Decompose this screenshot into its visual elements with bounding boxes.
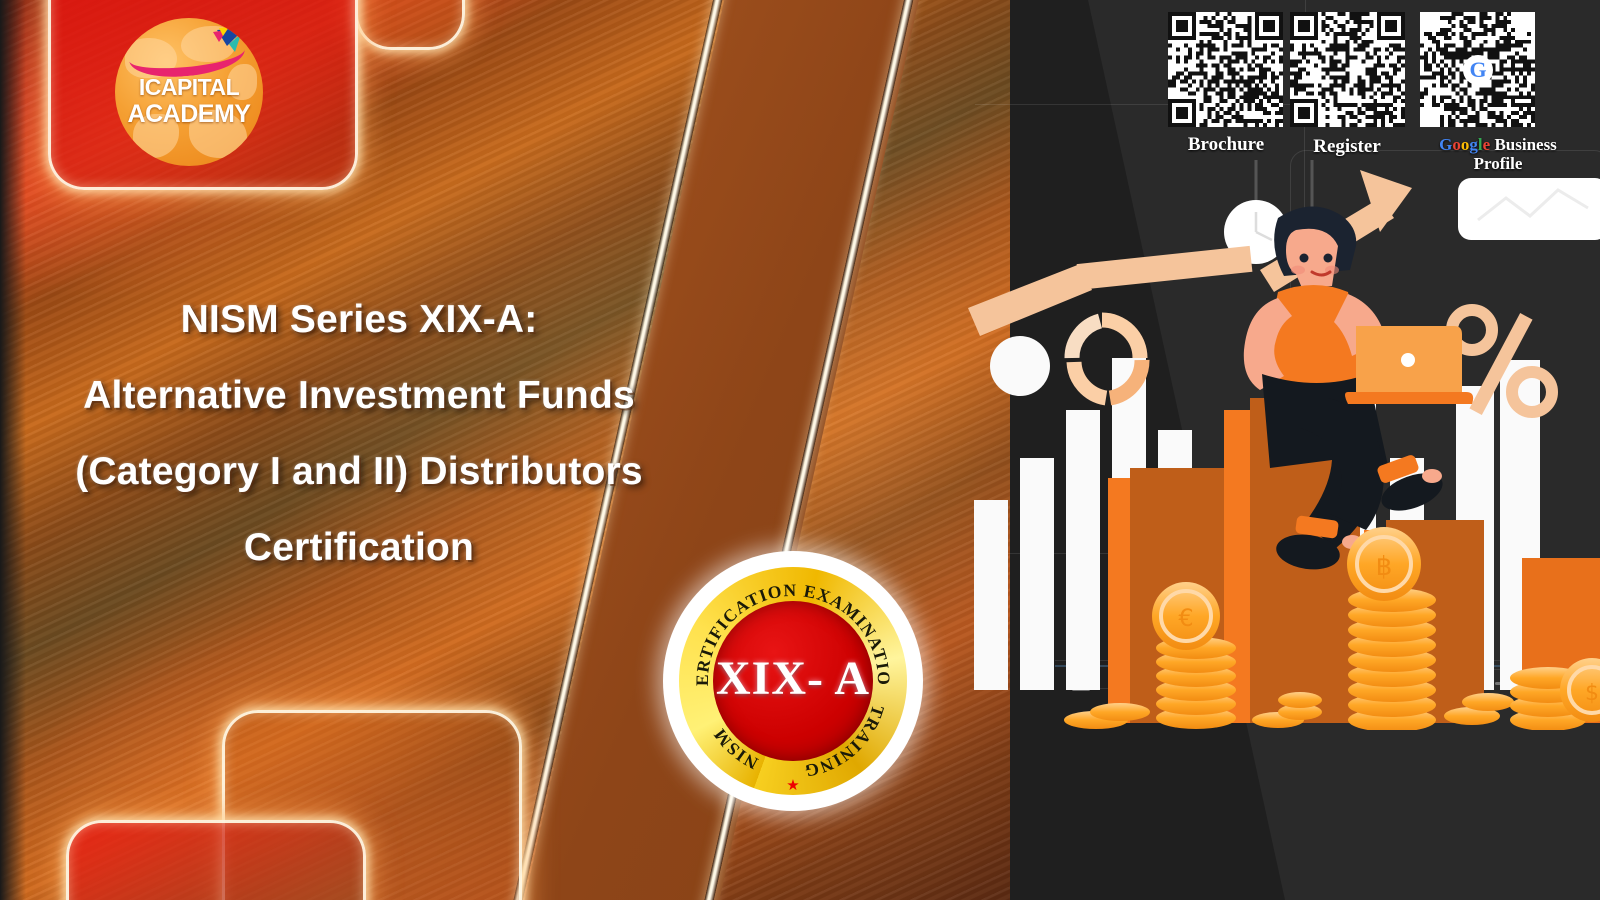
white-chart-card [1458,178,1600,240]
google-business-qr-label: Google BusinessProfile [1400,136,1596,173]
google-g-icon: G [1463,55,1493,85]
seal-arc-bottom-left: NISM [709,724,761,773]
page-title: NISM Series XIX-A: Alternative Investmen… [0,282,718,586]
google-letter-o1: o [1452,135,1461,154]
google-business-qr[interactable]: G [1420,12,1535,127]
brochure-qr[interactable] [1168,12,1283,127]
logo-text-line1: ICAPITAL [115,74,263,101]
glow-frame-bottom-left [66,820,366,900]
svg-text:฿: ฿ [1376,552,1393,582]
svg-text:TRAINING: TRAINING [802,703,888,782]
paper-plane-icon [211,26,251,60]
decorative-circle [990,336,1050,396]
google-letter-g2: g [1469,135,1478,154]
google-label-line2: Profile [1474,154,1523,173]
svg-text:NISM: NISM [709,724,761,773]
promo-banner: € ฿ [0,0,1600,900]
title-line-1: NISM Series XIX-A: [0,282,718,358]
svg-text:€: € [1178,604,1193,632]
icapital-academy-logo[interactable]: ICAPITAL ACADEMY [115,18,263,166]
nism-certification-seal: CERTIFICATION EXAMINATION TRAINING NISM … [663,551,923,811]
title-line-2: Alternative Investment Funds [0,358,718,434]
seal-arc-bottom-right: TRAINING [802,703,888,782]
google-letter-g: G [1439,135,1452,154]
register-qr[interactable] [1290,12,1405,127]
glow-frame-top-right [355,0,465,50]
seal-center-text: XIX- A [663,651,923,706]
investment-growth-illustration: € ฿ [960,160,1600,730]
title-line-3: (Category I and II) Distributors [0,434,718,510]
title-line-4: Certification [0,510,718,586]
svg-text:$: $ [1585,681,1599,706]
google-label-suffix: Business [1490,135,1557,154]
logo-text-line2: ACADEMY [115,100,263,129]
seal-star-icon: ★ [786,779,800,793]
